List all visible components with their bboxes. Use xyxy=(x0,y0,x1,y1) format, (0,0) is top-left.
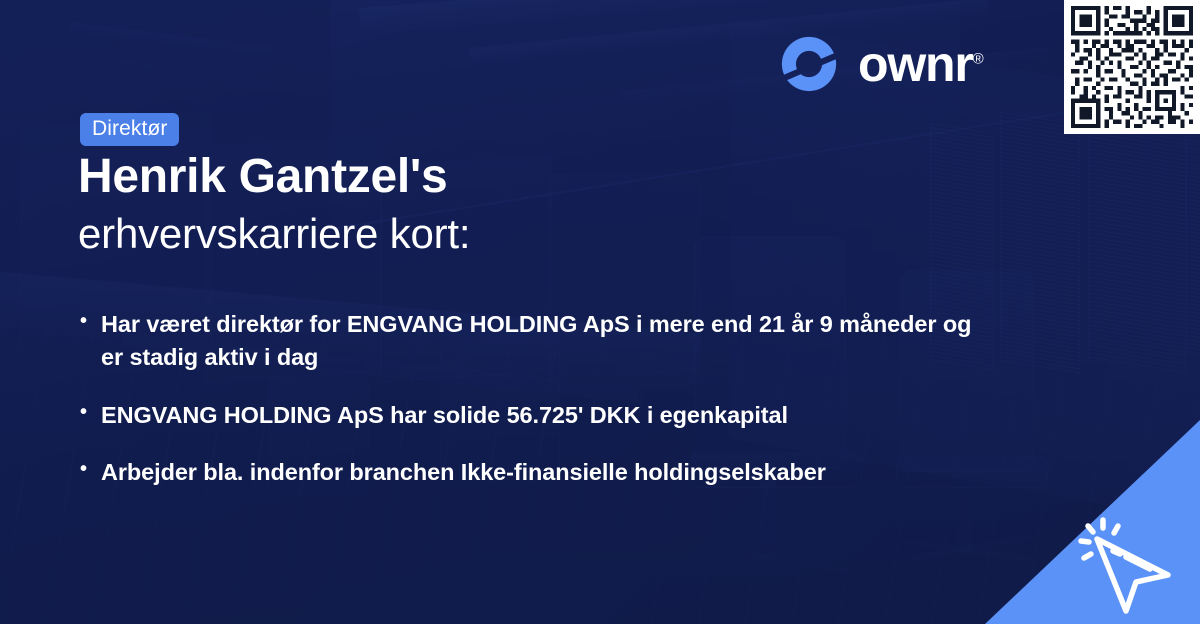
ownr-wordmark: ownr® xyxy=(858,39,984,89)
title-line-2: erhvervskarriere kort: xyxy=(78,209,838,259)
card-content: Direktør Henrik Gantzel's erhvervskarrie… xyxy=(0,0,1200,624)
list-item: ENGVANG HOLDING ApS har solide 56.725' D… xyxy=(80,399,980,432)
list-item: Arbejder bla. indenfor branchen Ikke-fin… xyxy=(80,456,980,489)
ownr-logo[interactable]: ownr® xyxy=(778,33,984,95)
title-line-1: Henrik Gantzel's xyxy=(78,150,838,205)
qr-code-modules xyxy=(1070,6,1194,128)
list-item: Har været direktør for ENGVANG HOLDING A… xyxy=(80,308,980,375)
qr-code[interactable] xyxy=(1064,0,1200,134)
role-badge: Direktør xyxy=(80,113,179,146)
click-cursor-icon xyxy=(1068,512,1180,616)
ownr-circle-swoosh-icon xyxy=(778,33,840,95)
page-title: Henrik Gantzel's erhvervskarriere kort: xyxy=(78,150,838,259)
ownr-wordmark-text: ownr xyxy=(858,36,973,92)
fact-list: Har været direktør for ENGVANG HOLDING A… xyxy=(80,308,980,513)
registered-trademark-icon: ® xyxy=(973,50,984,67)
career-card: Direktør Henrik Gantzel's erhvervskarrie… xyxy=(0,0,1200,624)
